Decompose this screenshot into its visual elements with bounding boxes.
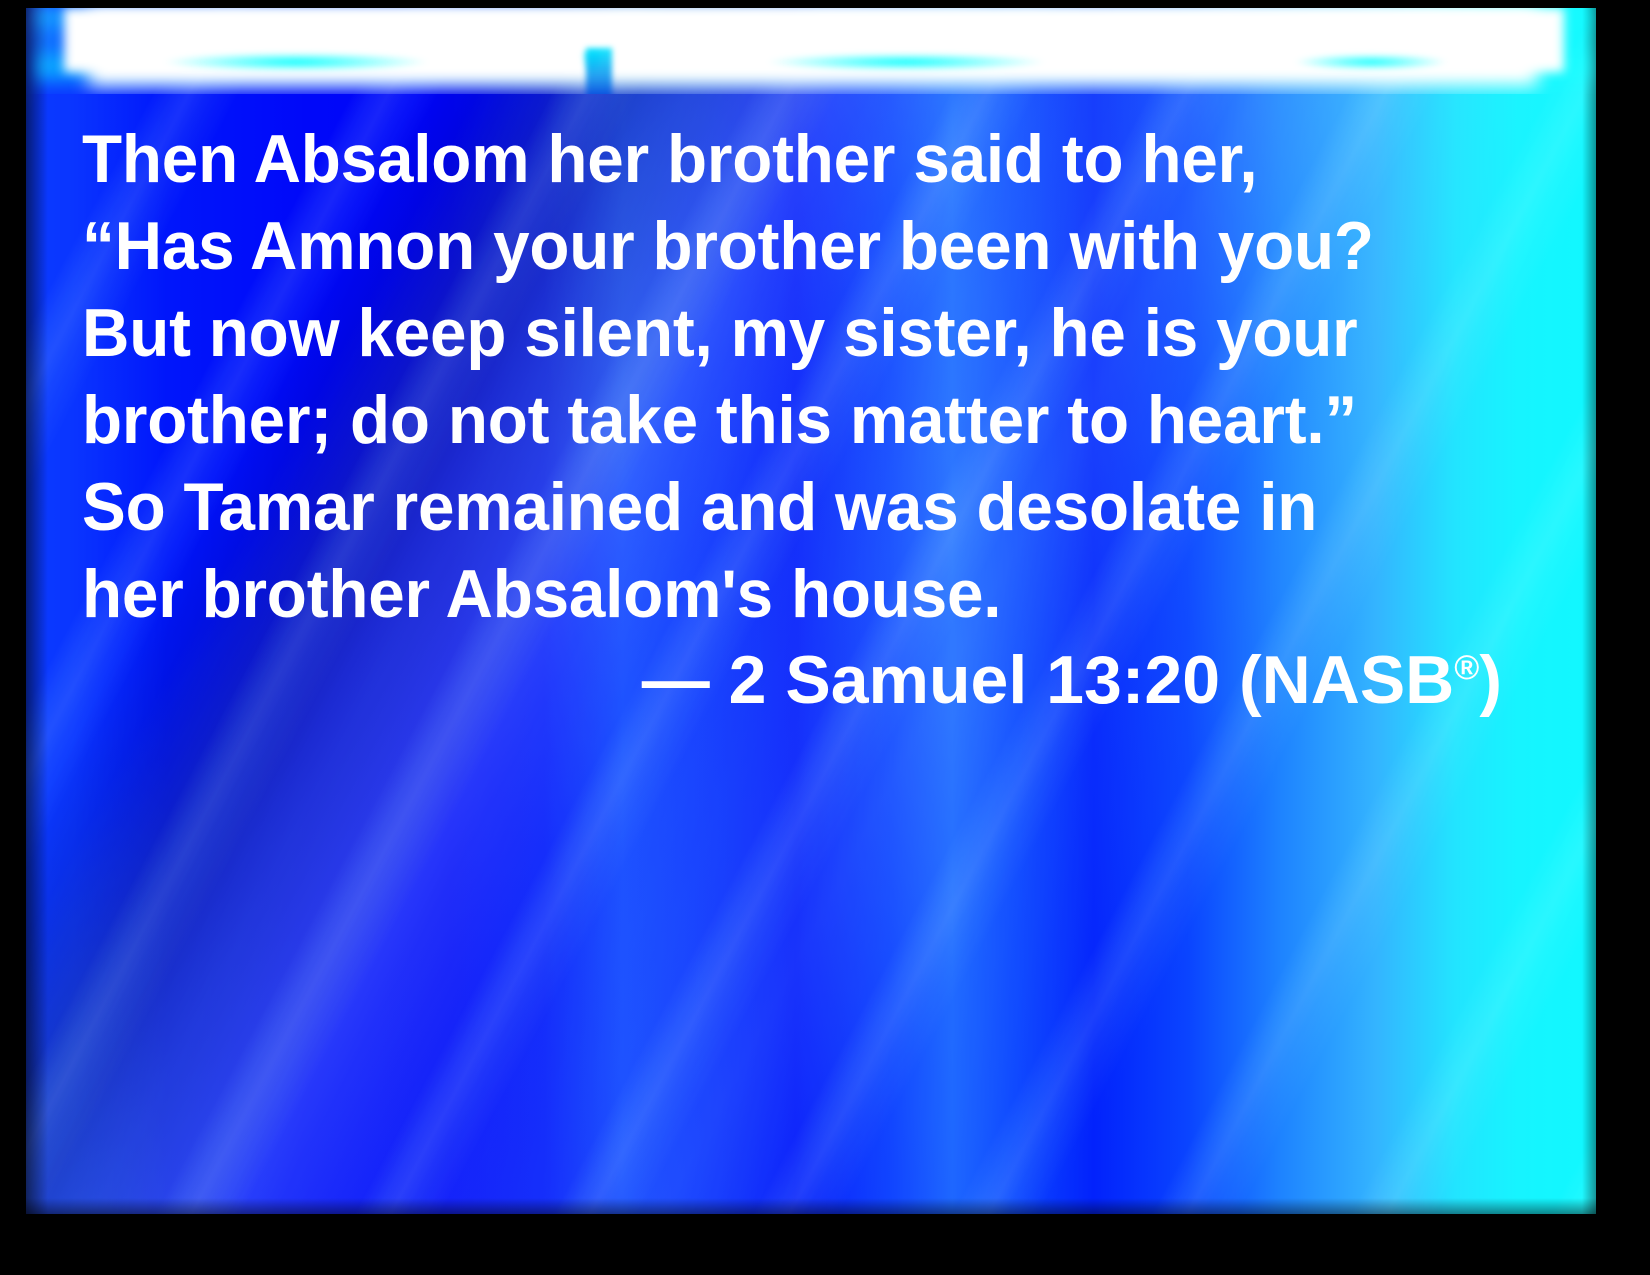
registered-trademark-icon: ®	[1454, 649, 1479, 687]
verse-reference: — 2 Samuel 13:20 (NASB®)	[82, 637, 1502, 724]
verse-line-1: Then Absalom her brother said to her,	[82, 116, 1452, 203]
verse-line-3: But now keep silent, my sister, he is yo…	[82, 290, 1452, 377]
slide-frame: Then Absalom her brother said to her, “H…	[0, 0, 1650, 1275]
verse-reference-prefix: — 2 Samuel 13:20 (NASB	[642, 642, 1455, 718]
verse-text-block: Then Absalom her brother said to her, “H…	[82, 116, 1502, 638]
verse-line-4: brother; do not take this matter to hear…	[82, 377, 1452, 464]
verse-line-5: So Tamar remained and was desolate in	[82, 464, 1452, 551]
verse-line-2: “Has Amnon your brother been with you?	[82, 203, 1452, 290]
verse-reference-suffix: )	[1479, 642, 1502, 718]
verse-line-6: her brother Absalom's house.	[82, 551, 1452, 638]
